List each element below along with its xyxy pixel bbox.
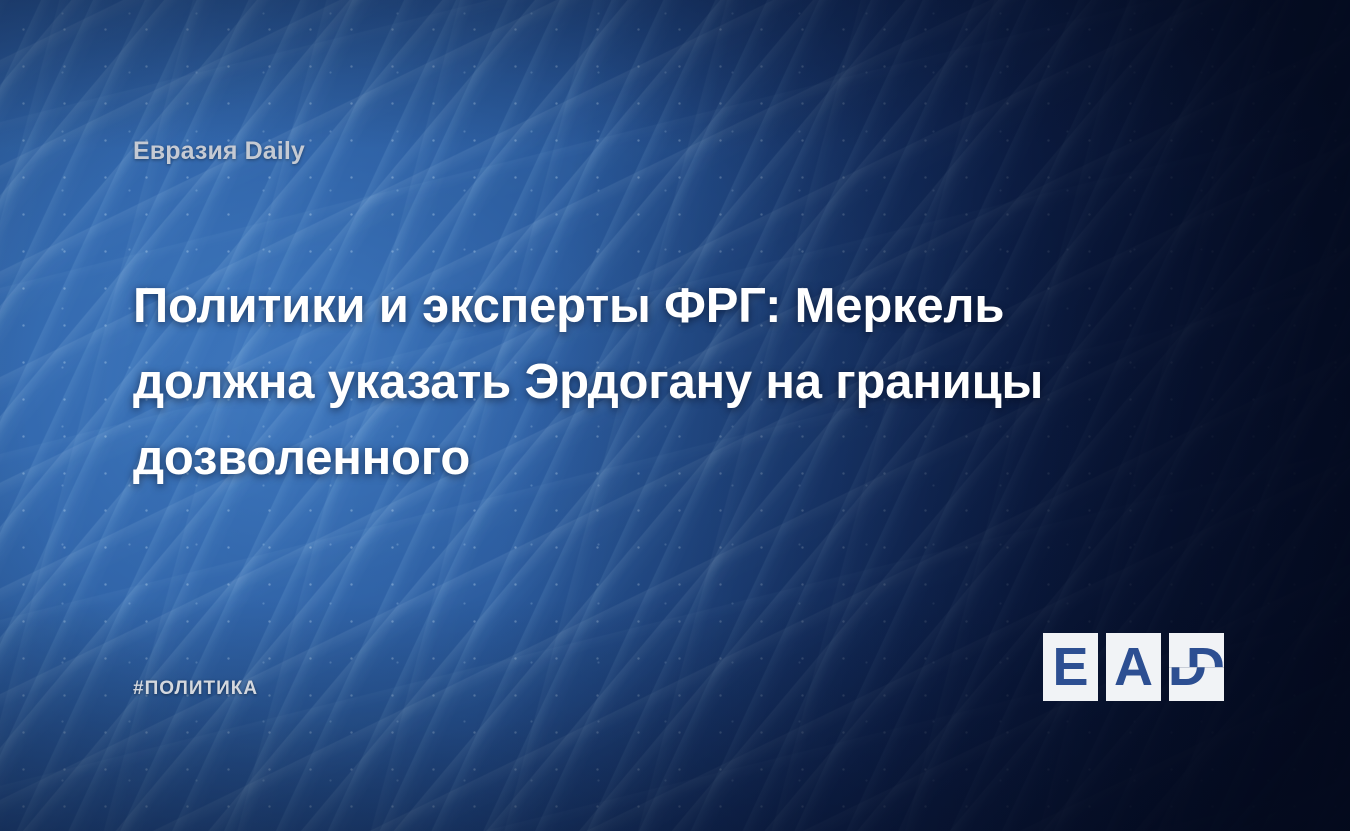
logo-letter-d-bottom-half: D xyxy=(1169,667,1224,701)
logo-tile-d: D D xyxy=(1169,633,1224,701)
category-tag: #ПОЛИТИКА xyxy=(133,678,258,700)
logo-letter-d-lower: D xyxy=(1169,667,1215,701)
logo-tile-a: A xyxy=(1106,633,1161,701)
logo-letter-a: A xyxy=(1106,633,1161,701)
logo-letter-d-top-half: D xyxy=(1169,633,1224,667)
ead-logo: E A D D xyxy=(1043,633,1224,701)
logo-letter-e: E xyxy=(1043,633,1098,701)
page-title: Политики и эксперты ФРГ: Меркель должна … xyxy=(133,268,1193,496)
logo-tile-e: E xyxy=(1043,633,1098,701)
publisher-name: Евразия Daily xyxy=(133,137,305,166)
social-card: Евразия Daily Политики и эксперты ФРГ: М… xyxy=(0,0,1350,831)
logo-tile-seam xyxy=(1169,667,1224,668)
logo-letter-d-upper: D xyxy=(1178,633,1224,667)
card-content: Евразия Daily Политики и эксперты ФРГ: М… xyxy=(0,0,1350,831)
